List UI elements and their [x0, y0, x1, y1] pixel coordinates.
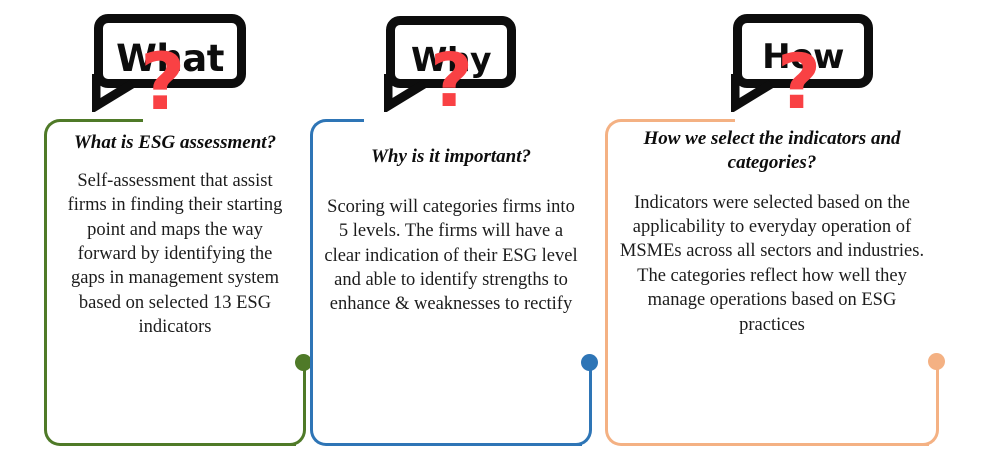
speech-bubble-tail-icon — [384, 72, 430, 112]
speech-bubble-tail-icon — [92, 72, 138, 112]
column-what: What ? What is ESG assessment? Self-asse… — [44, 0, 306, 473]
card-why: Why is it important? Scoring will catego… — [310, 119, 592, 446]
speech-bubble-what: What ? — [44, 6, 306, 118]
card-accent-dot — [581, 354, 598, 371]
card-frame-bottom — [68, 443, 296, 446]
card-text: Scoring will categories firms into 5 lev… — [324, 195, 578, 317]
speech-bubble-why: Why ? — [310, 6, 592, 118]
card-title: How we select the indicators and categor… — [615, 127, 929, 175]
card-frame-right — [566, 360, 592, 446]
card-text: Self-assessment that assist firms in fin… — [60, 169, 290, 340]
question-mark-icon: ? — [140, 44, 185, 122]
infographic-canvas: What ? What is ESG assessment? Self-asse… — [0, 0, 993, 473]
card-content: How we select the indicators and categor… — [605, 127, 939, 337]
card-frame-bottom — [629, 443, 929, 446]
card-title: What is ESG assessment? — [60, 131, 290, 155]
card-title: Why is it important? — [324, 145, 578, 169]
column-why: Why ? Why is it important? Scoring will … — [310, 0, 592, 473]
card-frame-top — [68, 119, 143, 122]
card-frame-top — [334, 119, 364, 122]
column-how: How ? How we select the indicators and c… — [605, 0, 939, 473]
speech-bubble-tail-icon — [731, 72, 777, 112]
card-content: What is ESG assessment? Self-assessment … — [44, 131, 306, 340]
card-content: Why is it important? Scoring will catego… — [310, 145, 592, 317]
card-text: Indicators were selected based on the ap… — [615, 191, 929, 337]
question-mark-icon: ? — [430, 44, 473, 118]
card-what: What is ESG assessment? Self-assessment … — [44, 119, 306, 446]
card-accent-dot — [928, 353, 945, 370]
card-how: How we select the indicators and categor… — [605, 119, 939, 446]
speech-bubble-how: How ? — [605, 6, 939, 118]
question-mark-icon: ? — [777, 44, 821, 120]
card-frame-top — [629, 119, 735, 122]
card-frame-right — [913, 358, 939, 446]
card-frame-right — [280, 360, 306, 446]
card-frame-bottom — [334, 443, 582, 446]
